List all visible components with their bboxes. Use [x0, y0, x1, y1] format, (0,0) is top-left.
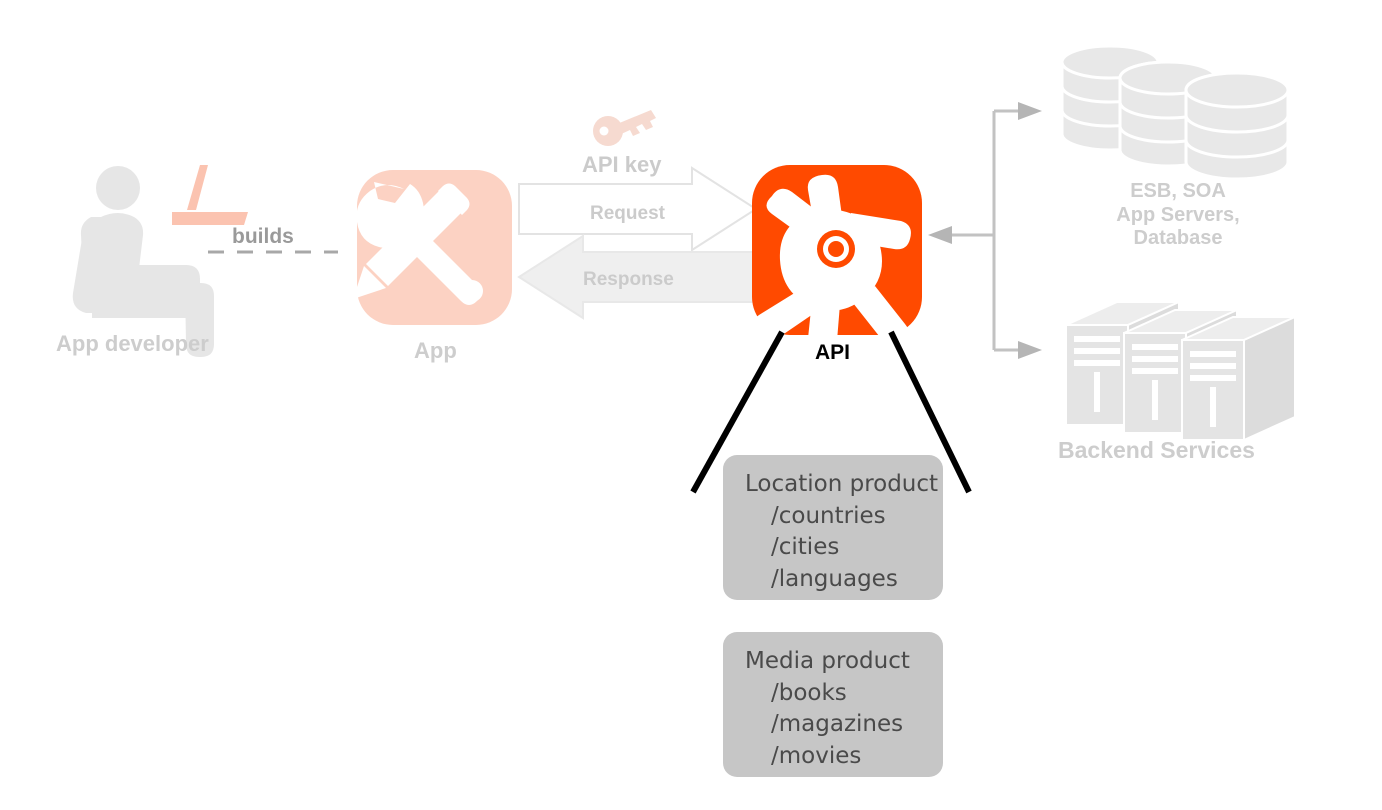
media-product-path: /movies	[745, 741, 943, 773]
app-label: App	[414, 338, 457, 364]
app-icon[interactable]	[353, 170, 512, 325]
media-product-path: /magazines	[745, 709, 943, 741]
api-key-label: API key	[582, 152, 662, 178]
location-product-path: /cities	[745, 532, 943, 564]
request-label: Request	[590, 203, 665, 225]
backend-top-label: ESB, SOA App Servers, Database	[1075, 180, 1281, 251]
diagram-canvas: App developer builds App API key Request…	[0, 0, 1382, 810]
backend-top-label-line-1: ESB, SOA	[1075, 180, 1281, 204]
database-stack-icon	[1062, 46, 1288, 179]
location-product-path: /languages	[745, 564, 943, 596]
app-developer-label: App developer	[56, 331, 209, 357]
diagram-graphics-layer	[0, 0, 1382, 810]
media-product-title: Media product	[745, 646, 943, 678]
builds-edge-label: builds	[232, 225, 294, 250]
location-product-title: Location product	[745, 469, 943, 501]
location-product-box[interactable]: Location product /countries /cities /lan…	[723, 455, 943, 600]
key-icon	[593, 110, 656, 146]
person-at-laptop-icon	[73, 165, 248, 357]
response-label: Response	[583, 269, 674, 291]
backend-services-label: Backend Services	[1058, 437, 1255, 464]
backend-top-label-line-2: App Servers,	[1075, 204, 1281, 228]
backend-top-label-line-3: Database	[1075, 227, 1281, 251]
media-product-path: /books	[745, 678, 943, 710]
location-product-path: /countries	[745, 501, 943, 533]
api-label: API	[815, 341, 850, 366]
server-racks-icon	[1066, 302, 1295, 440]
media-product-box[interactable]: Media product /books /magazines /movies	[723, 632, 943, 777]
backend-connector-arrows	[928, 102, 1042, 359]
